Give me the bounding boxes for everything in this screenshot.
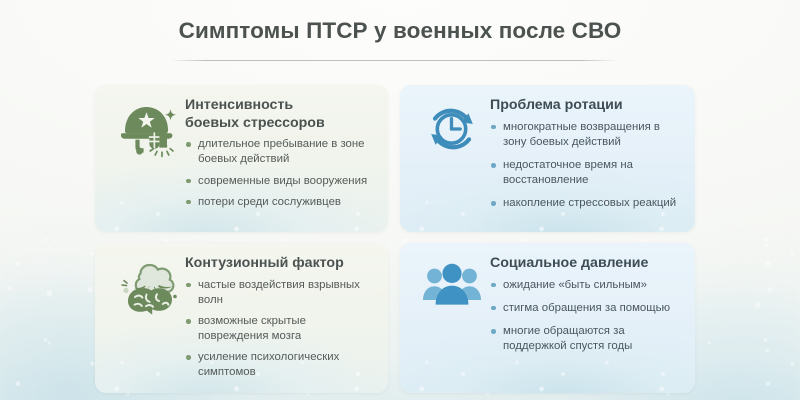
card-icon-column — [414, 97, 490, 222]
list-item: стигма обращения за помощью — [490, 301, 683, 316]
card-text-column: Интенсивностьбоевых стрессоров длительно… — [185, 97, 376, 222]
list-item: многие обращаются за поддержкой спустя г… — [490, 324, 683, 354]
clock-rotation-icon — [424, 101, 480, 157]
card-social-pressure[interactable]: Социальное давление ожидание «быть сильн… — [400, 243, 695, 393]
card-title: Контузионный фактор — [185, 255, 376, 273]
list-item: длительное пребывание в зоне боевых дейс… — [185, 137, 376, 167]
card-title: Социальное давление — [490, 255, 683, 273]
card-bullet-list: частые воздействия взрывных волн возможн… — [185, 278, 376, 381]
list-item: усиление психологических симптомов — [185, 350, 376, 380]
card-icon-column — [414, 255, 490, 383]
list-item: потери среди сослуживцев — [185, 195, 376, 210]
list-item: недостаточное время на восстановление — [490, 158, 683, 188]
list-item: ожидание «быть сильным» — [490, 278, 683, 293]
slide-header: Симптомы ПТСР у военных после СВО — [0, 0, 800, 78]
list-item: многократные возвращения в зону боевых д… — [490, 120, 683, 150]
list-item: частые воздействия взрывных волн — [185, 278, 376, 308]
card-title-line-2: боевых стрессоров — [185, 115, 325, 131]
card-concussion[interactable]: Контузионный фактор частые воздействия в… — [95, 243, 388, 393]
card-icon-column — [109, 97, 185, 222]
card-title: Интенсивностьбоевых стрессоров — [185, 97, 376, 132]
card-text-column: Проблема ротации многократные возвращени… — [490, 97, 683, 222]
people-group-icon — [422, 263, 482, 309]
card-title: Проблема ротации — [490, 97, 683, 115]
card-text-column: Контузионный фактор частые воздействия в… — [185, 255, 376, 383]
card-text-column: Социальное давление ожидание «быть сильн… — [490, 255, 683, 383]
card-icon-column — [109, 255, 185, 383]
title-divider — [170, 60, 617, 61]
card-rotation[interactable]: Проблема ротации многократные возвращени… — [400, 85, 695, 232]
military-helmet-icon — [116, 101, 178, 161]
card-title-line-1: Интенсивность — [185, 97, 293, 113]
list-item: накопление стрессовых реакций — [490, 196, 683, 211]
card-bullet-list: длительное пребывание в зоне боевых дейс… — [185, 137, 376, 210]
brain-blast-icon — [115, 261, 179, 319]
list-item: возможные скрытые повреждения мозга — [185, 314, 376, 344]
list-item: современные виды вооружения — [185, 174, 376, 189]
card-bullet-list: ожидание «быть сильным» стигма обращения… — [490, 278, 683, 355]
card-intensity[interactable]: Интенсивностьбоевых стрессоров длительно… — [95, 85, 388, 232]
card-bullet-list: многократные возвращения в зону боевых д… — [490, 120, 683, 212]
infographic-slide: Симптомы ПТСР у военных после СВО — [0, 0, 800, 400]
page-title: Симптомы ПТСР у военных после СВО — [0, 18, 800, 44]
